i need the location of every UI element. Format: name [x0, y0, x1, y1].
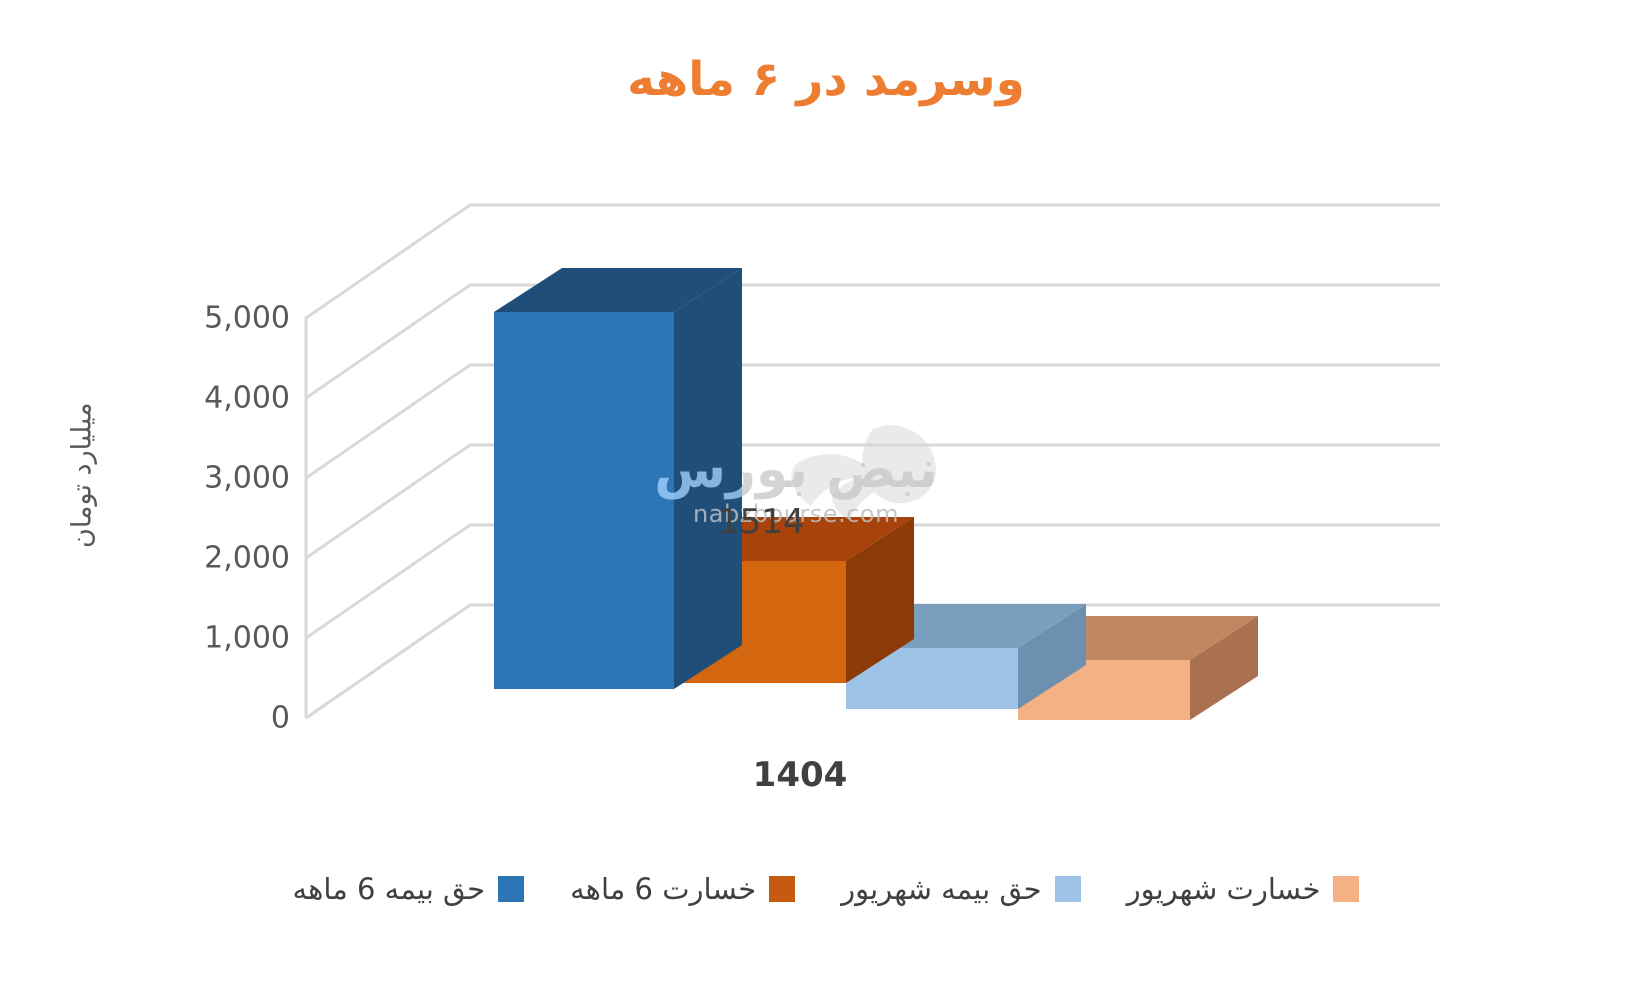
legend-item-khesarat-shahrivar[interactable]: خسارت شهریور	[1127, 872, 1360, 906]
y-axis-tick-labels: 5,000 4,000 3,000 2,000 1,000 0	[165, 0, 290, 989]
legend-item-khesarat-6mahe[interactable]: خسارت 6 ماهه	[570, 872, 795, 906]
chart-legend: حق بیمه 6 ماهه خسارت 6 ماهه حق بیمه شهری…	[0, 872, 1652, 906]
legend-swatch-icon	[1055, 876, 1081, 902]
x-axis-category-label: 1404	[690, 755, 910, 795]
data-label-khesarat-6mahe: 1514	[718, 502, 805, 542]
y-tick-0: 0	[170, 701, 290, 736]
bar-series-haghbime-shahrivar[interactable]	[846, 604, 1086, 709]
y-tick-5000: 5,000	[170, 301, 290, 336]
y-tick-4000: 4,000	[170, 381, 290, 416]
y-axis-title: میلیارد تومان	[62, 355, 102, 595]
legend-item-haghbime-shahrivar[interactable]: حق بیمه شهریور	[841, 872, 1080, 906]
legend-label: خسارت 6 ماهه	[570, 872, 756, 906]
legend-label: خسارت شهریور	[1127, 872, 1321, 906]
legend-item-haghbime-6mahe[interactable]: حق بیمه 6 ماهه	[293, 872, 525, 906]
y-tick-3000: 3,000	[170, 461, 290, 496]
legend-label: حق بیمه 6 ماهه	[293, 872, 486, 906]
bar-series-khesarat-shahrivar[interactable]	[1018, 616, 1258, 720]
y-tick-1000: 1,000	[170, 621, 290, 656]
y-tick-2000: 2,000	[170, 541, 290, 576]
legend-swatch-icon	[1333, 876, 1359, 902]
axis-baseline	[306, 605, 470, 718]
watermark-text: نبض بورس	[636, 440, 956, 500]
floor-lines	[370, 605, 534, 718]
legend-label: حق بیمه شهریور	[841, 872, 1041, 906]
legend-swatch-icon	[769, 876, 795, 902]
legend-swatch-icon	[498, 876, 524, 902]
